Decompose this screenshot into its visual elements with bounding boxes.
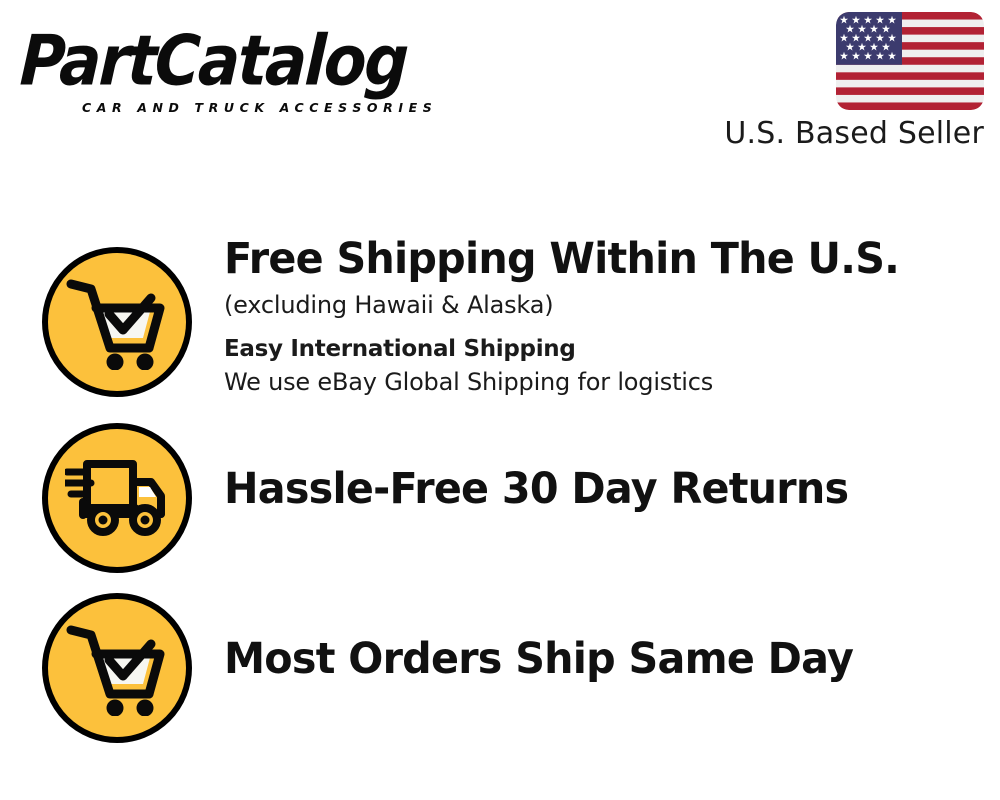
- feature-title: Hassle-Free 30 Day Returns: [224, 463, 954, 515]
- feature-row-same-day: Most Orders Ship Same Day: [0, 585, 1000, 750]
- shopping-cart-check-icon: [42, 247, 192, 397]
- brand-tagline: CAR AND TRUCK ACCESSORIES: [82, 100, 437, 115]
- feature-text-same-day: Most Orders Ship Same Day: [224, 633, 984, 685]
- delivery-truck-icon: [42, 423, 192, 573]
- seller-badge-label: U.S. Based Seller: [714, 116, 984, 152]
- brand-wordmark: PartCatalog: [19, 24, 492, 98]
- partcatalog-logo[interactable]: PartCatalog CAR AND TRUCK ACCESSORIES: [22, 24, 492, 116]
- shopping-cart-check-icon: [42, 593, 192, 743]
- feature-title: Free Shipping Within The U.S.: [224, 233, 954, 285]
- feature-title: Most Orders Ship Same Day: [224, 633, 954, 685]
- us-based-seller-badge: U.S. Based Seller: [714, 12, 984, 152]
- feature-subheading: Easy International Shipping: [224, 333, 984, 365]
- page-header: PartCatalog CAR AND TRUCK ACCESSORIES: [0, 0, 1000, 175]
- feature-subdetail: We use eBay Global Shipping for logistic…: [224, 366, 984, 398]
- feature-subnote: (excluding Hawaii & Alaska): [224, 289, 984, 321]
- feature-text-free-shipping: Free Shipping Within The U.S. (excluding…: [224, 233, 984, 398]
- feature-text-returns: Hassle-Free 30 Day Returns: [224, 463, 984, 515]
- feature-row-returns: Hassle-Free 30 Day Returns: [0, 415, 1000, 580]
- feature-row-free-shipping: Free Shipping Within The U.S. (excluding…: [0, 185, 1000, 375]
- us-flag-icon: [836, 12, 984, 110]
